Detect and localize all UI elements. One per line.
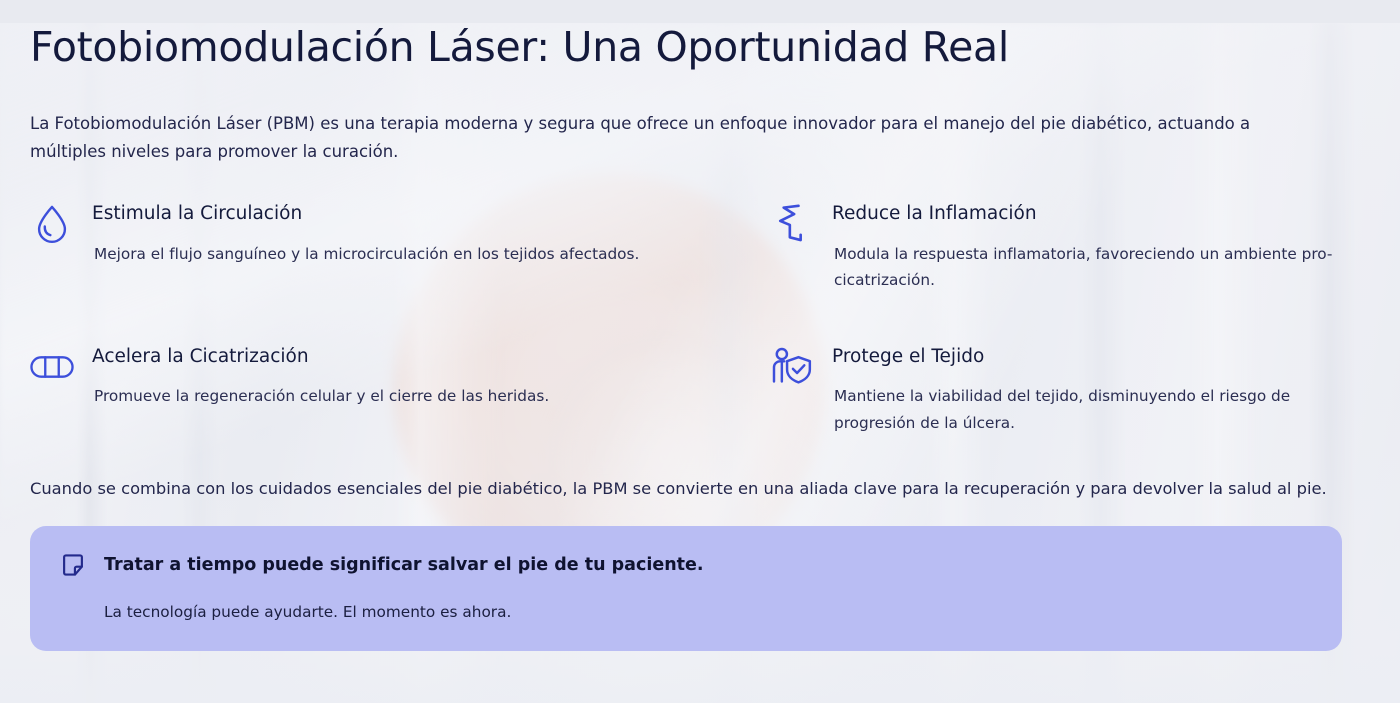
- page-content: Fotobiomodulación Láser: Una Oportunidad…: [0, 23, 1400, 651]
- feature-description: Modula la respuesta inflamatoria, favore…: [832, 241, 1370, 294]
- feature-title: Acelera la Cicatrización: [92, 346, 549, 368]
- callout-title: Tratar a tiempo puede significar salvar …: [104, 555, 704, 575]
- feature-item-circulacion: Estimula la Circulación Mejora el flujo …: [30, 200, 770, 293]
- feature-title: Estimula la Circulación: [92, 203, 639, 225]
- droplet-icon: [30, 201, 74, 247]
- leg-foot-icon: [770, 201, 814, 247]
- feature-text: Reduce la Inflamación Modula la respuest…: [832, 200, 1370, 293]
- feature-description: Mejora el flujo sanguíneo y la microcirc…: [92, 241, 639, 268]
- feature-item-cicatrizacion: Acelera la Cicatrización Promueve la reg…: [30, 343, 770, 436]
- sticky-note-icon: [60, 552, 86, 578]
- callout-subtitle: La tecnología puede ayudarte. El momento…: [104, 603, 1312, 621]
- feature-grid: Estimula la Circulación Mejora el flujo …: [30, 200, 1370, 436]
- callout-header: Tratar a tiempo puede significar salvar …: [60, 552, 1312, 578]
- feature-description: Mantiene la viabilidad del tejido, dismi…: [832, 383, 1370, 436]
- feature-text: Protege el Tejido Mantiene la viabilidad…: [832, 343, 1370, 436]
- intro-paragraph: La Fotobiomodulación Láser (PBM) es una …: [30, 110, 1320, 166]
- feature-description: Promueve la regeneración celular y el ci…: [92, 383, 549, 410]
- person-shield-check-icon: [770, 344, 814, 390]
- feature-title: Protege el Tejido: [832, 346, 1370, 368]
- feature-item-inflamacion: Reduce la Inflamación Modula la respuest…: [770, 200, 1370, 293]
- feature-text: Acelera la Cicatrización Promueve la reg…: [92, 343, 549, 410]
- feature-item-proteccion: Protege el Tejido Mantiene la viabilidad…: [770, 343, 1370, 436]
- closing-paragraph: Cuando se combina con los cuidados esenc…: [30, 476, 1370, 502]
- page-title: Fotobiomodulación Láser: Una Oportunidad…: [30, 23, 1370, 71]
- feature-title: Reduce la Inflamación: [832, 203, 1370, 225]
- bandage-icon: [30, 344, 74, 390]
- callout-box: Tratar a tiempo puede significar salvar …: [30, 526, 1342, 651]
- feature-text: Estimula la Circulación Mejora el flujo …: [92, 200, 639, 267]
